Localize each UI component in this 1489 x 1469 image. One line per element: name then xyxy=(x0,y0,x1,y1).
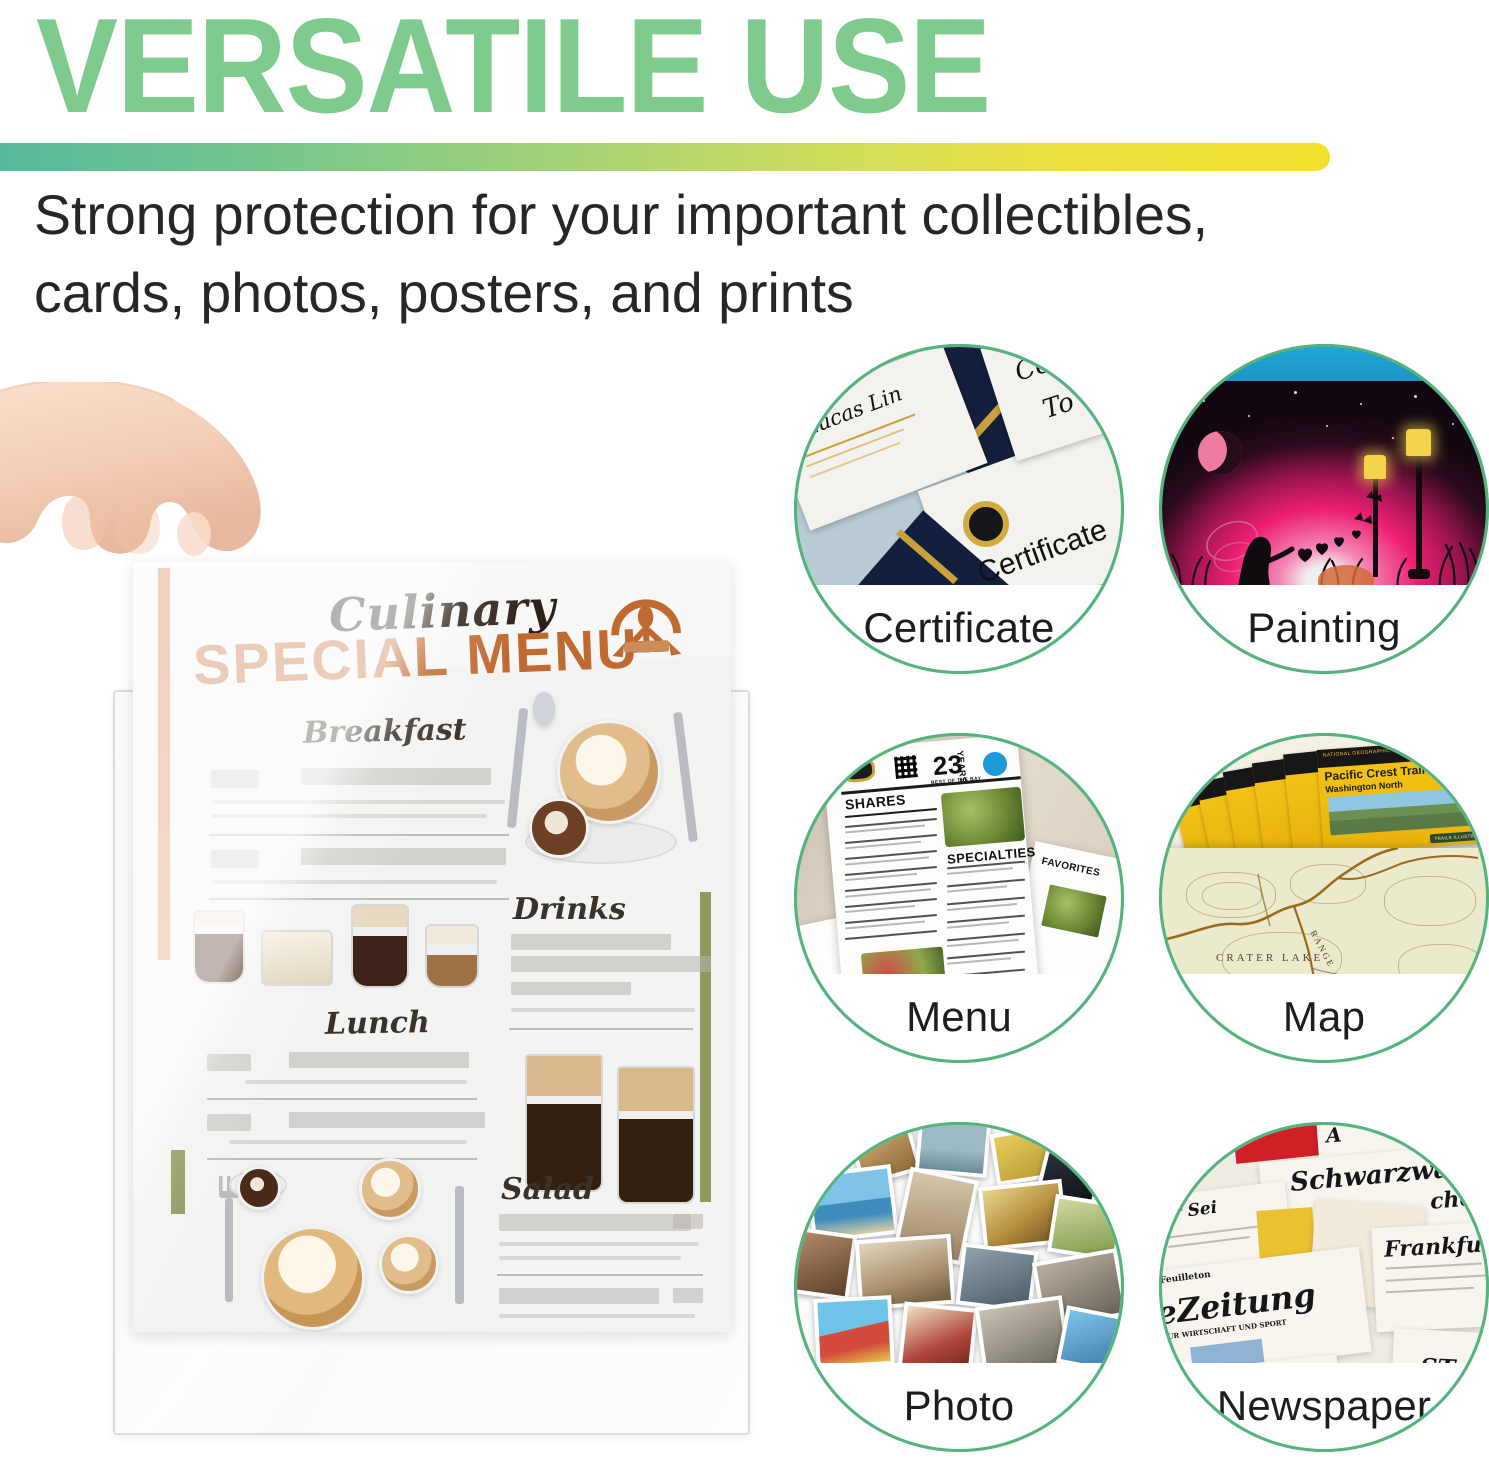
subtitle-line-2: cards, photos, posters, and prints xyxy=(34,254,1420,332)
tile-photo-label: Photo xyxy=(904,1382,1015,1430)
menu-desc-ghost xyxy=(211,800,505,804)
menu-divider xyxy=(207,1158,477,1160)
menu-desc-ghost xyxy=(211,880,497,884)
macchiato-glass xyxy=(425,924,479,988)
tile-newspaper-label-band: Newspaper xyxy=(1162,1363,1486,1449)
tile-photo-ring: Photo xyxy=(794,1122,1124,1452)
knife xyxy=(455,1186,464,1304)
hand-holding-menu xyxy=(0,382,318,632)
tile-photo[interactable]: Photo xyxy=(794,1122,1124,1452)
page-title: VERSATILE USE xyxy=(36,0,990,135)
product-photo: Culinary SPECIAL MENU Breakfast Dri xyxy=(0,330,790,1469)
menu-item-ghost xyxy=(499,1214,691,1231)
menu-section-lunch-label: Lunch xyxy=(325,1005,430,1042)
menu-desc-ghost xyxy=(211,814,487,818)
menu-divider xyxy=(209,834,509,836)
tile-certificate-label-band: Certificate xyxy=(797,585,1121,671)
menu-price-ghost xyxy=(207,1114,251,1131)
menu-item-ghost xyxy=(301,848,506,865)
tile-painting-label-band: Painting xyxy=(1162,585,1486,671)
menu-divider xyxy=(207,1098,477,1100)
fork-handle xyxy=(225,1198,233,1302)
menu-section-breakfast-label: Breakfast xyxy=(303,712,467,750)
butterflies-icon xyxy=(1344,475,1390,533)
tile-menu-label-band: Menu xyxy=(797,974,1121,1060)
menu-desc-ghost xyxy=(511,1008,695,1012)
menu-divider xyxy=(497,1274,703,1276)
spoon-handle xyxy=(507,708,528,828)
tile-map-ring: NATIONAL GEOGRAPHIC Pacific Crest Trail … xyxy=(1159,733,1489,1063)
page-header: VERSATILE USE Strong protection for your… xyxy=(0,0,1489,320)
tile-certificate-label: Certificate xyxy=(863,604,1054,652)
tile-painting-ring: Painting xyxy=(1159,344,1489,674)
menu-desc-ghost xyxy=(499,1256,681,1260)
layered-latte-glass xyxy=(351,904,409,988)
menu-price-ghost xyxy=(673,1288,703,1303)
spoon-bowl xyxy=(533,692,555,726)
tile-newspaper[interactable]: A Schwarzwa che er Sei Frankfurter Feuil… xyxy=(1159,1122,1489,1452)
tile-painting[interactable]: Painting xyxy=(1159,344,1489,674)
latte-art-cup xyxy=(359,1158,421,1220)
menu-divider xyxy=(209,898,509,900)
menu-price-ghost xyxy=(207,1054,251,1071)
page-subtitle: Strong protection for your important col… xyxy=(34,176,1420,332)
espresso-cup xyxy=(529,798,589,858)
tile-menu-ring: FAVORITES 23 YEARS BEST OF THE BAY SHARE… xyxy=(794,733,1124,1063)
tile-map-label: Map xyxy=(1283,993,1365,1041)
tile-certificate-ring: Lucas Lin Certificate Ce To Certificate xyxy=(794,344,1124,674)
tile-menu-label: Menu xyxy=(906,993,1012,1041)
menu-item-ghost xyxy=(289,1112,485,1128)
subtitle-line-1: Strong protection for your important col… xyxy=(34,176,1420,254)
menu-item-ghost xyxy=(301,768,491,785)
tile-newspaper-label: Newspaper xyxy=(1217,1382,1431,1430)
use-case-grid: Lucas Lin Certificate Ce To Certificate xyxy=(780,330,1489,1469)
tile-painting-label: Painting xyxy=(1247,604,1400,652)
menu-desc-ghost xyxy=(229,1140,467,1144)
menu-price-ghost xyxy=(211,770,259,788)
map-series-badge: TRAILS ILLUSTRATED xyxy=(1430,830,1489,843)
menu-section-drinks-label: Drinks xyxy=(513,892,626,927)
menu-item-ghost xyxy=(289,1052,469,1068)
photo-thumb xyxy=(813,1295,895,1369)
tile-newspaper-ring: A Schwarzwa che er Sei Frankfurter Feuil… xyxy=(1159,1122,1489,1452)
tile-certificate[interactable]: Lucas Lin Certificate Ce To Certificate xyxy=(794,344,1124,674)
drink-glass xyxy=(193,910,245,984)
gradient-divider xyxy=(0,143,1330,171)
menu-olive-accent-left xyxy=(171,1150,185,1214)
menu-item-ghost xyxy=(511,934,671,950)
menu-item-ghost xyxy=(511,982,631,995)
menu-desc-ghost xyxy=(245,1080,467,1084)
tile-menu[interactable]: FAVORITES 23 YEARS BEST OF THE BAY SHARE… xyxy=(794,733,1124,1063)
photo-thumb xyxy=(794,1227,857,1300)
tall-latte-glass xyxy=(617,1066,695,1204)
menu-divider xyxy=(509,1028,693,1030)
tile-photo-label-band: Photo xyxy=(797,1363,1121,1449)
menu-price-ghost xyxy=(211,850,259,868)
menu-card: Culinary SPECIAL MENU Breakfast Dri xyxy=(133,562,731,1332)
menu-olive-accent-right xyxy=(700,892,711,1202)
menu-desc-ghost xyxy=(499,1314,695,1318)
latte-art-cup xyxy=(379,1234,439,1294)
knife xyxy=(673,712,698,842)
tile-map-label-band: Map xyxy=(1162,974,1486,1060)
menu-item-ghost xyxy=(499,1288,659,1304)
menu-desc-ghost xyxy=(499,1242,699,1246)
menu-item-ghost xyxy=(511,956,711,972)
tile-map[interactable]: NATIONAL GEOGRAPHIC Pacific Crest Trail … xyxy=(1159,733,1489,1063)
menu-section-salad-label: Salad xyxy=(501,1172,594,1207)
espresso-cup xyxy=(237,1166,281,1210)
map-label-crater-lake: CRATER LAKE xyxy=(1216,952,1323,964)
menu-price-ghost xyxy=(673,1214,703,1229)
large-latte-cup xyxy=(261,1226,365,1330)
dessert-cube xyxy=(261,930,333,986)
coffee-crest-logo-icon xyxy=(602,585,691,674)
